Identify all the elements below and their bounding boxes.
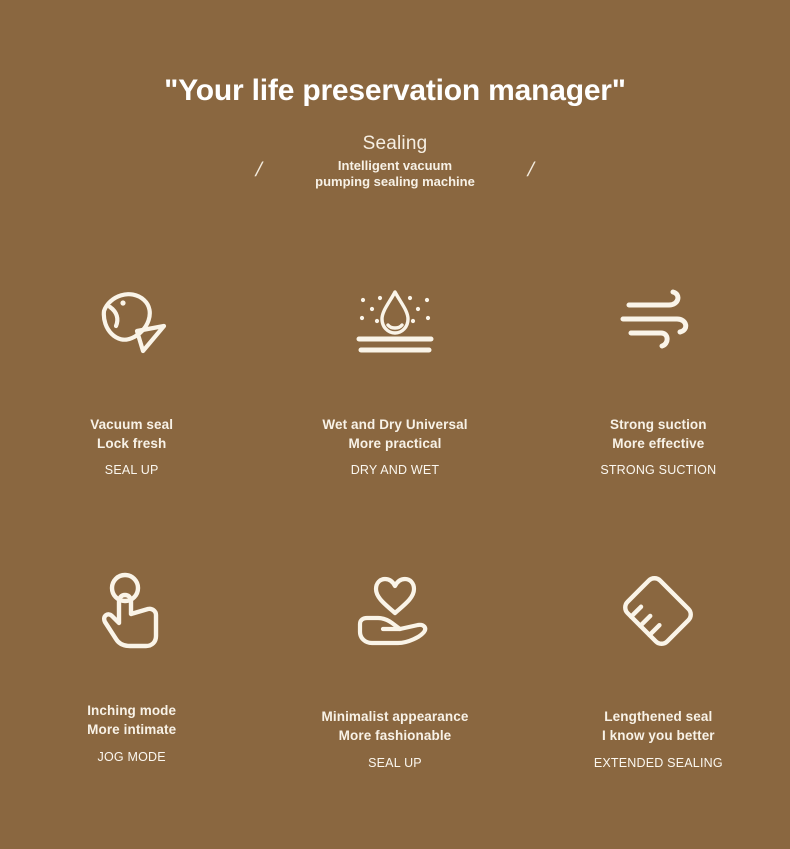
feature-line-2: More practical	[263, 435, 526, 454]
feature-item-strong-suction: Strong suction More effective STRONG SUC…	[527, 276, 790, 478]
subtitle-line-1: Intelligent vacuum	[250, 158, 540, 174]
feature-line-1: Lengthened seal	[527, 708, 790, 727]
feature-line-1: Minimalist appearance	[263, 708, 526, 727]
feature-line-2: More effective	[527, 435, 790, 454]
feature-item-wet-dry: Wet and Dry Universal More practical DRY…	[263, 276, 526, 478]
feature-labels: Vacuum seal Lock fresh SEAL UP	[0, 416, 263, 478]
feature-caption: SEAL UP	[263, 756, 526, 771]
subtitle-description: Intelligent vacuum pumping sealing machi…	[250, 158, 540, 191]
feature-labels: Lengthened seal I know you better EXTEND…	[527, 708, 790, 770]
feature-labels: Minimalist appearance More fashionable S…	[263, 708, 526, 770]
banner-header: "Your life preservation manager" / Seali…	[0, 0, 790, 190]
subtitle-heading: Sealing	[250, 133, 540, 155]
subtitle-block: / Sealing Intelligent vacuum pumping sea…	[250, 133, 540, 190]
feature-item-lengthened-seal: Lengthened seal I know you better EXTEND…	[527, 568, 790, 770]
feature-line-2: More intimate	[0, 721, 263, 740]
feature-labels: Wet and Dry Universal More practical DRY…	[263, 416, 526, 478]
ruler-icon	[527, 568, 790, 654]
feature-caption: DRY AND WET	[263, 463, 526, 478]
feature-line-1: Wet and Dry Universal	[263, 416, 526, 435]
feature-line-2: Lock fresh	[0, 435, 263, 454]
feature-line-2: More fashionable	[263, 727, 526, 746]
feature-line-1: Strong suction	[527, 416, 790, 435]
feature-item-inching-mode: Inching mode More intimate JOG MODE	[0, 568, 263, 770]
feature-caption: SEAL UP	[0, 463, 263, 478]
feature-caption: EXTENDED SEALING	[527, 756, 790, 771]
feature-line-1: Inching mode	[0, 702, 263, 721]
water-droplet-icon	[263, 276, 526, 362]
feature-item-minimalist-appearance: Minimalist appearance More fashionable S…	[263, 568, 526, 770]
wind-icon	[527, 276, 790, 362]
feature-labels: Strong suction More effective STRONG SUC…	[527, 416, 790, 478]
page-title: "Your life preservation manager"	[0, 0, 790, 107]
feature-grid: Vacuum seal Lock fresh SEAL UP	[0, 276, 790, 771]
fish-icon	[0, 276, 263, 362]
feature-caption: STRONG SUCTION	[527, 463, 790, 478]
feature-row: Vacuum seal Lock fresh SEAL UP	[0, 276, 790, 478]
subtitle-line-2: pumping sealing machine	[250, 174, 540, 190]
heart-in-hand-icon	[263, 568, 526, 654]
feature-line-2: I know you better	[527, 727, 790, 746]
product-feature-banner: "Your life preservation manager" / Seali…	[0, 0, 790, 849]
feature-line-1: Vacuum seal	[0, 416, 263, 435]
feature-caption: JOG MODE	[0, 750, 263, 765]
feature-labels: Inching mode More intimate JOG MODE	[0, 702, 263, 764]
feature-item-vacuum-seal: Vacuum seal Lock fresh SEAL UP	[0, 276, 263, 478]
touch-hand-icon	[0, 568, 263, 654]
feature-row: Inching mode More intimate JOG MODE Mini…	[0, 568, 790, 770]
